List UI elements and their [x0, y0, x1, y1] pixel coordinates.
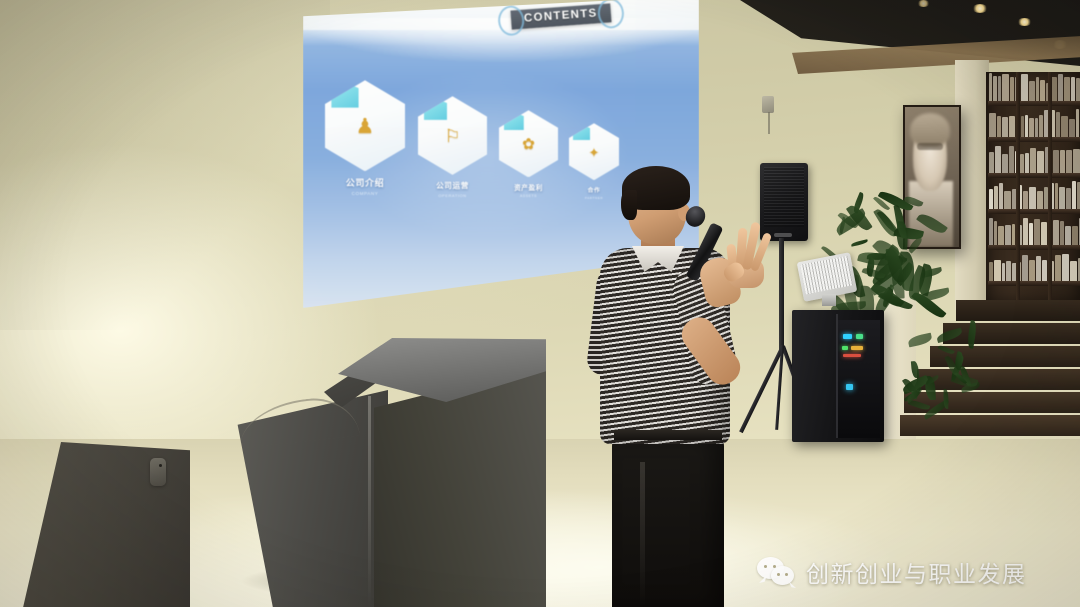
book [1056, 112, 1060, 137]
people-group-icon: ♟ [325, 117, 405, 138]
book [1006, 261, 1011, 281]
cabinet-control-panel[interactable] [838, 320, 880, 438]
slide-item-2: ⚐公司运营OPERATION [418, 96, 487, 198]
monitor-screen [800, 256, 853, 295]
book [994, 260, 1001, 281]
presenter-sideburn [621, 190, 637, 220]
book [1023, 218, 1028, 245]
book [1072, 181, 1076, 209]
book [1010, 77, 1014, 101]
book [1072, 226, 1078, 245]
book [1036, 256, 1041, 281]
book [994, 186, 998, 209]
lectern-front-edge [368, 396, 371, 607]
bookshelf-row [988, 144, 1080, 178]
book [997, 116, 1001, 137]
presenter-leg-seam [640, 462, 645, 607]
book [1071, 77, 1075, 101]
book [1034, 219, 1040, 245]
presenter-legs [612, 436, 724, 607]
bookshelf-row [988, 72, 1080, 106]
bookshelf-row [988, 108, 1080, 142]
bookshelf-upright [1016, 72, 1020, 302]
bookshelf-plank [988, 281, 1080, 286]
book [1069, 119, 1075, 137]
slide-item-hexagon: ⚐ [418, 96, 487, 175]
book [1037, 151, 1044, 173]
book [994, 221, 997, 245]
book [1076, 109, 1079, 137]
led-indicator-blue [843, 334, 852, 339]
bookshelf-plank [988, 137, 1080, 142]
slide-item-hexagon: ♟ [325, 80, 405, 171]
speaker-badge [774, 233, 792, 237]
book [1053, 220, 1059, 245]
book [1025, 115, 1028, 137]
book [1020, 154, 1024, 173]
book [1005, 225, 1011, 245]
book [1037, 191, 1043, 209]
book [1070, 261, 1077, 281]
bookshelf-plank [988, 101, 1080, 106]
book [1061, 116, 1068, 137]
book [1053, 150, 1059, 173]
panel-latch-dot [159, 464, 162, 467]
book [1059, 187, 1065, 209]
book [1029, 81, 1035, 101]
handshake-icon: ✦ [569, 146, 619, 159]
wechat-eye-dot [777, 573, 780, 576]
contents-banner-label: CONTENTS [524, 8, 598, 25]
slide-item-3: ✿资产盈利ASSETS [499, 110, 558, 198]
book [1036, 77, 1039, 101]
led-indicator-blue [846, 384, 853, 390]
lectern-right-face [374, 364, 546, 607]
slide-item-label-en: COMPANY [325, 191, 405, 196]
book [1029, 260, 1035, 281]
book [1002, 74, 1009, 101]
book [1023, 191, 1028, 209]
gear-coin-icon: ✿ [499, 137, 558, 152]
book [1012, 224, 1015, 245]
hexagon-cyan-accent [573, 126, 590, 141]
plant-leaf [851, 239, 868, 247]
hexagon-cyan-accent [424, 99, 447, 119]
portrait-hair [910, 113, 950, 147]
book [1004, 191, 1011, 209]
led-indicator-amber [851, 346, 863, 350]
book [998, 76, 1001, 101]
monitor-stand [822, 294, 836, 306]
book [1009, 146, 1014, 173]
plant-leaf [907, 333, 933, 348]
wechat-logo-icon [757, 557, 797, 587]
book [1025, 153, 1029, 173]
book [1064, 77, 1070, 101]
book [1055, 255, 1061, 281]
bookshelf-row [988, 216, 1080, 250]
book [993, 76, 997, 101]
presenter-waistband [614, 430, 722, 440]
slide-item-label-cn: 资产盈利 [499, 182, 558, 192]
book [1029, 187, 1036, 209]
ceiling-spotlight-icon [1017, 18, 1032, 26]
book [1002, 117, 1008, 137]
plant-leaf [943, 389, 949, 409]
led-indicator-green [856, 334, 863, 339]
book [1002, 154, 1008, 173]
book [1058, 74, 1063, 101]
book [1062, 254, 1069, 281]
book [995, 146, 1001, 173]
book [1021, 74, 1028, 101]
bookshelf [986, 72, 1080, 302]
book [1066, 188, 1071, 209]
ceiling-spotlight-icon [917, 0, 930, 7]
ceiling-spotlight-icon [972, 4, 988, 13]
led-indicator-red [843, 354, 861, 357]
wall-shadow-top-left [0, 0, 330, 330]
book [989, 73, 992, 101]
book [1040, 80, 1045, 101]
book [1030, 148, 1036, 173]
book [1060, 150, 1065, 173]
slide-item-label-en: OPERATION [418, 193, 487, 198]
book [989, 113, 996, 137]
slide-item-label-cn: 公司运营 [418, 180, 487, 191]
wechat-bubble-small [771, 566, 794, 585]
presentation-photo-scene: CONTENTS ♟公司介绍COMPANY⚐公司运营OPERATION✿资产盈利… [0, 0, 1080, 607]
slide-item-label-cn: 公司介绍 [325, 176, 405, 189]
potted-plant-small [900, 330, 970, 420]
book [1009, 116, 1015, 137]
book [1035, 118, 1038, 137]
presenter-gesturing-hand [726, 218, 770, 280]
book [999, 183, 1003, 209]
slide-item-label-en: ASSETS [499, 194, 558, 198]
hexagon-cyan-accent [331, 84, 358, 108]
book [989, 189, 993, 209]
book [1042, 260, 1047, 281]
panel-latch-icon [150, 458, 166, 486]
book [998, 226, 1004, 245]
book [989, 152, 994, 173]
speaker-stand-pole [779, 238, 784, 350]
bookshelf-plank [988, 245, 1080, 250]
plant-leaf [911, 361, 919, 378]
plant-leaf [935, 328, 963, 344]
hexagon-cyan-accent [504, 113, 524, 130]
presenter [586, 162, 776, 607]
led-indicator-green [842, 346, 848, 350]
stair-step [956, 300, 1080, 321]
book [989, 262, 993, 281]
book [1055, 183, 1058, 209]
book [1021, 116, 1024, 137]
portrait-glasses-icon [917, 143, 943, 150]
slide-item-1: ♟公司介绍COMPANY [325, 80, 405, 196]
plant-leaf [938, 343, 955, 355]
slide-item-hexagon: ✿ [499, 110, 558, 177]
book [1029, 118, 1034, 137]
bookshelf-plank [988, 173, 1080, 178]
book [1002, 263, 1005, 281]
book [1073, 149, 1080, 173]
lectern [228, 338, 546, 607]
book [1039, 115, 1043, 137]
wall-sensor-icon [762, 96, 774, 113]
bookshelf-row [988, 180, 1080, 214]
book [1060, 221, 1064, 245]
wall-sensor-cable [768, 112, 770, 134]
bookshelf-row [988, 252, 1080, 286]
book [1029, 223, 1033, 245]
channel-watermark: 创新创业与职业发展 [757, 555, 1027, 589]
equipment-cabinet [792, 310, 884, 442]
wechat-eye-dot [785, 573, 788, 576]
book [1041, 222, 1047, 245]
book [989, 218, 993, 245]
bookshelf-plank [988, 209, 1080, 214]
book [1066, 150, 1072, 173]
book [1065, 226, 1071, 245]
flag-chart-icon: ⚐ [418, 128, 487, 146]
book [1076, 78, 1080, 101]
watermark-label: 创新创业与职业发展 [806, 555, 1027, 589]
bookshelf-upright [1048, 72, 1052, 302]
book [1022, 255, 1028, 281]
